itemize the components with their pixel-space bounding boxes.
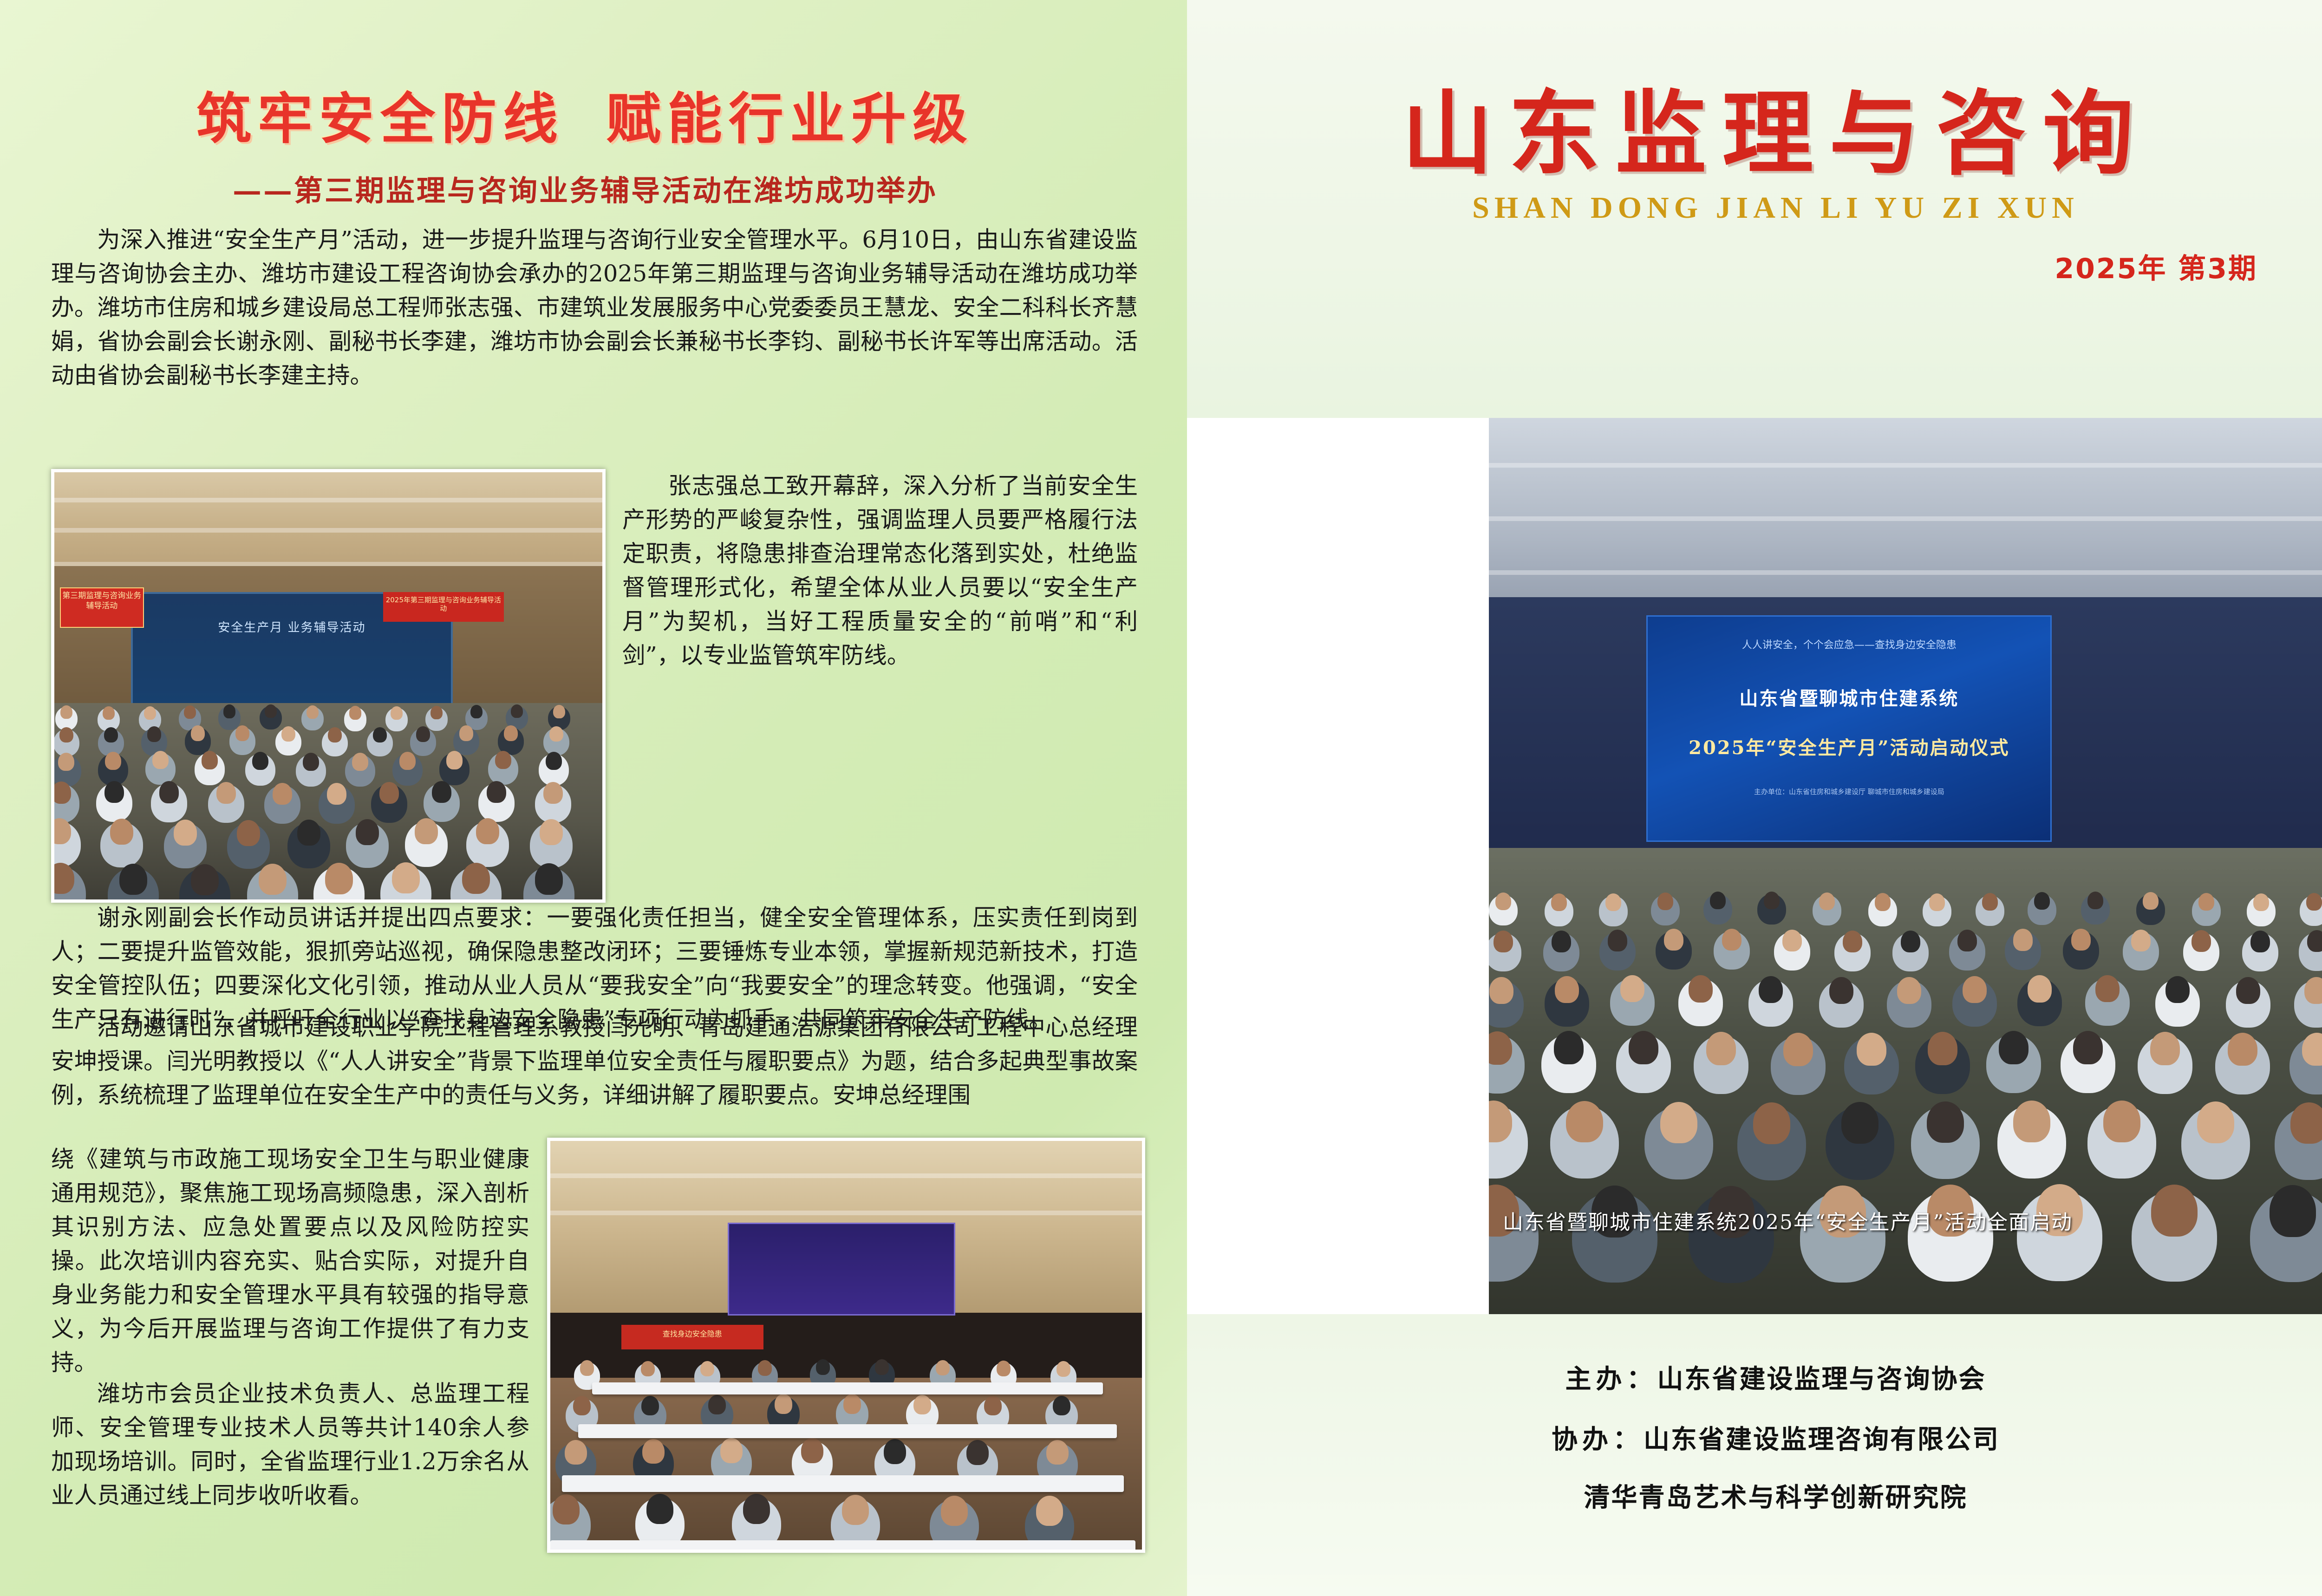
photo1-left-banner: 第三期监理与咨询业务辅导活动 — [60, 587, 144, 628]
cover-photo: 人人讲安全，个个会应急——查找身边安全隐患 山东省暨聊城市住建系统 2025年“… — [1489, 418, 2322, 1314]
cover-photo-screen: 人人讲安全，个个会应急——查找身边安全隐患 山东省暨聊城市住建系统 2025年“… — [1646, 615, 2052, 842]
photo2-banner-text: 查找身边安全隐患 — [621, 1325, 763, 1339]
paragraph-2: 张志强总工致开幕辞，深入分析了当前安全生产形势的严峻复杂性，强调监理人员要严格履… — [622, 469, 1138, 672]
headline-part2: 赋能行业升级 — [606, 86, 974, 151]
paragraph-4-text: 活动邀请山东省城市建设职业学院工程管理系教授闫光明、青岛建通浩源集团有限公司工程… — [51, 1010, 1138, 1112]
photo1-right-banner-text: 2025年第三期监理与咨询业务辅导活动 — [383, 592, 504, 612]
credit-coorganizer-2: 清华青岛艺术与科学创新研究院 — [1187, 1477, 2322, 1514]
paragraph-2-text: 张志强总工致开幕辞，深入分析了当前安全生产形势的严峻复杂性，强调监理人员要严格履… — [622, 469, 1138, 672]
credit-coorganizer-label: 协办： — [1552, 1424, 1644, 1455]
article-subheadline: ——第三期监理与咨询业务辅导活动在潍坊成功举办 — [79, 167, 1091, 209]
magazine-pinyin: SHAN DONG JIAN LI YU ZI XUN — [1187, 190, 2322, 226]
paragraph-5-text: 绕《建筑与市政施工现场安全卫生与职业健康通用规范》，聚焦施工现场高频隐患，深入剖… — [51, 1146, 529, 1376]
cover-screen-line2: 山东省暨聊城市住建系统 — [1648, 684, 2050, 710]
photo1-left-banner-text: 第三期监理与咨询业务辅导活动 — [61, 588, 143, 611]
credit-coorganizer: 协办：山东省建设监理咨询有限公司 — [1187, 1419, 2322, 1456]
paragraph-6-text: 潍坊市会员企业技术负责人、总监理工程师、安全管理专业技术人员等共计140余人参加… — [51, 1377, 529, 1512]
left-page: 筑牢安全防线赋能行业升级 ——第三期监理与咨询业务辅导活动在潍坊成功举办 为深入… — [0, 0, 1187, 1596]
credit-organizer: 主办：山东省建设监理与咨询协会 — [1187, 1358, 2322, 1396]
paragraph-1: 为深入推进“安全生产月”活动，进一步提升监理与咨询行业安全管理水平。6月10日，… — [51, 223, 1138, 392]
credit-organizer-value: 山东省建设监理与咨询协会 — [1657, 1364, 1986, 1394]
credit-coorganizer-2-value: 清华青岛艺术与科学创新研究院 — [1584, 1482, 1968, 1513]
credit-coorganizer-value: 山东省建设监理咨询有限公司 — [1644, 1424, 2000, 1455]
article-headline: 筑牢安全防线赋能行业升级 — [79, 74, 1091, 154]
right-page-cover: 山东监理与咨询 SHAN DONG JIAN LI YU ZI XUN 2025… — [1187, 0, 2322, 1596]
photo-training-room: 查找身边安全隐患 — [547, 1138, 1145, 1553]
magazine-title: 山东监理与咨询 — [1187, 60, 2322, 192]
cover-screen-line1: 人人讲安全，个个会应急——查找身边安全隐患 — [1648, 637, 2050, 651]
photo2-projection-screen — [728, 1223, 955, 1316]
photo-conference-hall: 安全生产月 业务辅导活动 第三期监理与咨询业务辅导活动 2025年第三期监理与咨… — [51, 469, 606, 903]
credit-organizer-label: 主办： — [1565, 1364, 1657, 1394]
photo1-right-banner: 2025年第三期监理与咨询业务辅导活动 — [383, 592, 504, 622]
paragraph-4: 活动邀请山东省城市建设职业学院工程管理系教授闫光明、青岛建通浩源集团有限公司工程… — [51, 1010, 1138, 1112]
cover-screen-line4: 主办单位：山东省住房和城乡建设厅 聊城市住房和城乡建设局 — [1648, 787, 2050, 796]
cover-photo-audience — [1489, 848, 2322, 1314]
paragraph-1-text: 为深入推进“安全生产月”活动，进一步提升监理与咨询行业安全管理水平。6月10日，… — [51, 223, 1138, 392]
paragraph-6: 潍坊市会员企业技术负责人、总监理工程师、安全管理专业技术人员等共计140余人参加… — [51, 1377, 529, 1512]
photo2-banner: 查找身边安全隐患 — [621, 1325, 763, 1349]
magazine-issue: 2025年 第3期 — [2055, 246, 2257, 287]
cover-screen-line3: 2025年“安全生产月”活动启动仪式 — [1648, 733, 2050, 760]
cover-photo-caption: 山东省暨聊城市住建系统2025年“安全生产月”活动全面启动 — [1503, 1205, 2073, 1235]
paragraph-5: 绕《建筑与市政施工现场安全卫生与职业健康通用规范》，聚焦施工现场高频隐患，深入剖… — [51, 1142, 529, 1380]
headline-part1: 筑牢安全防线 — [196, 86, 564, 151]
magazine-spread: 筑牢安全防线赋能行业升级 ——第三期监理与咨询业务辅导活动在潍坊成功举办 为深入… — [0, 0, 2322, 1596]
